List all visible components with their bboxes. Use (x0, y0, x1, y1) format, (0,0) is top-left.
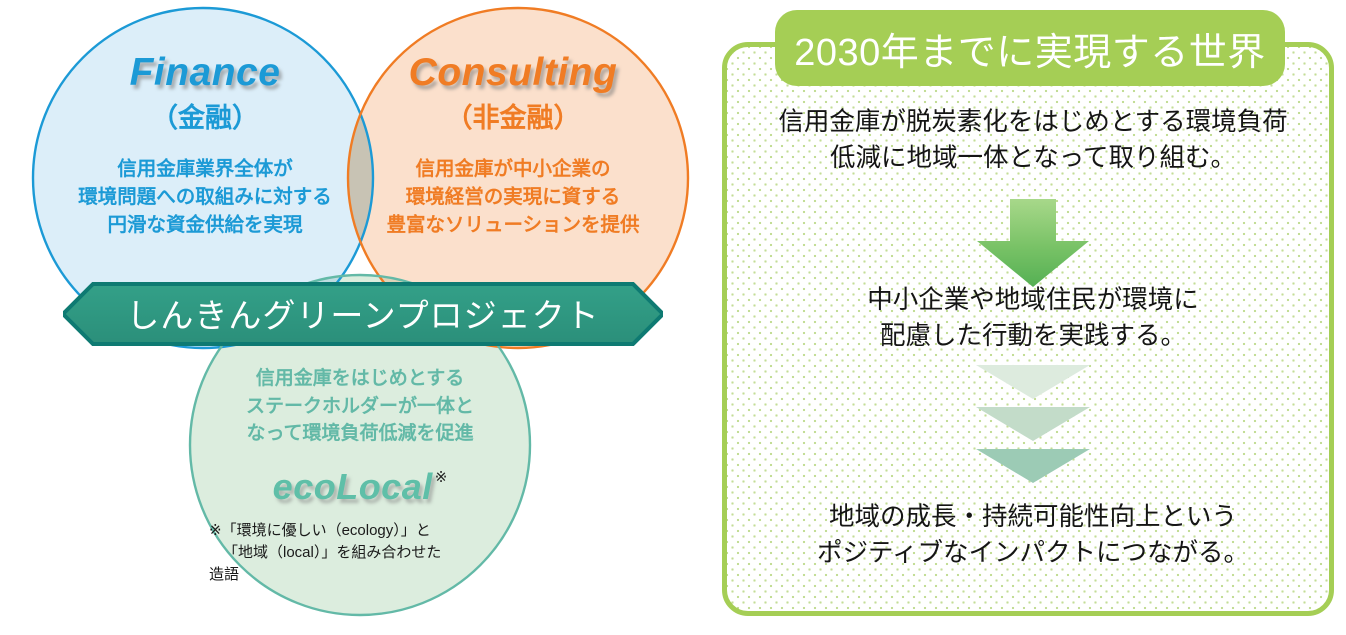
ecolocal-footnote-line-1: ※「環境に優しい（ecology）」と (209, 522, 431, 539)
chevron-2 (976, 407, 1090, 441)
panel-step-2-line-2: 配慮した行動を実践する。 (727, 318, 1339, 354)
project-banner-label: しんきんグリーンプロジェクト (63, 282, 663, 346)
ecolocal-footnote: ※「環境に優しい（ecology）」と 「地域（local）」を組み合わせた 造… (195, 520, 525, 585)
finance-text-block: Finance （金融） 信用金庫業界全体が 環境問題への取組みに対する 円滑な… (40, 48, 370, 240)
project-banner: しんきんグリーンプロジェクト (63, 282, 663, 346)
panel-step-2-line-1: 中小企業や地域住民が環境に (727, 282, 1339, 318)
ecolocal-body: 信用金庫をはじめとする ステークホルダーが一体と なって環境負荷低減を促進 (195, 365, 525, 448)
chevron-stack-icon (972, 365, 1094, 485)
ecolocal-logo-row: ecoLocal ※ (195, 464, 525, 511)
panel-step-3-line-1: 地域の成長・持続可能性向上という (727, 499, 1339, 535)
consulting-title: Consulting (348, 48, 678, 99)
finance-body-line-2: 環境問題への取組みに対する (40, 183, 370, 211)
consulting-body-line-1: 信用金庫が中小企業の (348, 155, 678, 183)
panel-step-1-line-2: 低減に地域一体となって取り組む。 (727, 140, 1339, 176)
footnote-mark-icon: ※ (435, 468, 448, 488)
finance-title: Finance (40, 48, 370, 99)
finance-subtitle: （金融） (40, 101, 370, 136)
panel-header-pill: 2030年までに実現する世界 (775, 10, 1285, 86)
ecolocal-logo: ecoLocal (273, 464, 433, 511)
consulting-body-line-2: 環境経営の実現に資する (348, 183, 678, 211)
panel-step-1-line-1: 信用金庫が脱炭素化をはじめとする環境負荷 (727, 104, 1339, 140)
panel-step-1: 信用金庫が脱炭素化をはじめとする環境負荷 低減に地域一体となって取り組む。 (727, 104, 1339, 176)
future-vision-panel: 信用金庫が脱炭素化をはじめとする環境負荷 低減に地域一体となって取り組む。 中小… (722, 42, 1334, 616)
venn-diagram: Finance （金融） 信用金庫業界全体が 環境問題への取組みに対する 円滑な… (0, 0, 720, 635)
finance-body-line-1: 信用金庫業界全体が (40, 155, 370, 183)
chevron-1 (976, 365, 1090, 399)
down-arrow-icon (977, 199, 1089, 287)
consulting-body-line-3: 豊富なソリューションを提供 (348, 211, 678, 239)
consulting-body: 信用金庫が中小企業の 環境経営の実現に資する 豊富なソリューションを提供 (348, 155, 678, 240)
ecolocal-footnote-line-3: 造語 (209, 564, 525, 586)
ecolocal-text-block: 信用金庫をはじめとする ステークホルダーが一体と なって環境負荷低減を促進 ec… (195, 365, 525, 586)
finance-body-line-3: 円滑な資金供給を実現 (40, 211, 370, 239)
ecolocal-body-line-2: ステークホルダーが一体と (195, 393, 525, 421)
panel-step-2: 中小企業や地域住民が環境に 配慮した行動を実践する。 (727, 282, 1339, 354)
ecolocal-body-line-1: 信用金庫をはじめとする (195, 365, 525, 393)
consulting-text-block: Consulting （非金融） 信用金庫が中小企業の 環境経営の実現に資する … (348, 48, 678, 240)
finance-body: 信用金庫業界全体が 環境問題への取組みに対する 円滑な資金供給を実現 (40, 155, 370, 240)
consulting-subtitle: （非金融） (348, 101, 678, 136)
infographic-root: Finance （金融） 信用金庫業界全体が 環境問題への取組みに対する 円滑な… (0, 0, 1346, 635)
chevron-3 (976, 449, 1090, 483)
ecolocal-footnote-line-2: 「地域（local）」を組み合わせた (209, 542, 525, 564)
panel-header-title: 2030年までに実現する世界 (794, 21, 1266, 76)
ecolocal-body-line-3: なって環境負荷低減を促進 (195, 420, 525, 448)
panel-step-3-line-2: ポジティブなインパクトにつながる。 (727, 535, 1339, 571)
panel-step-3: 地域の成長・持続可能性向上という ポジティブなインパクトにつながる。 (727, 499, 1339, 571)
